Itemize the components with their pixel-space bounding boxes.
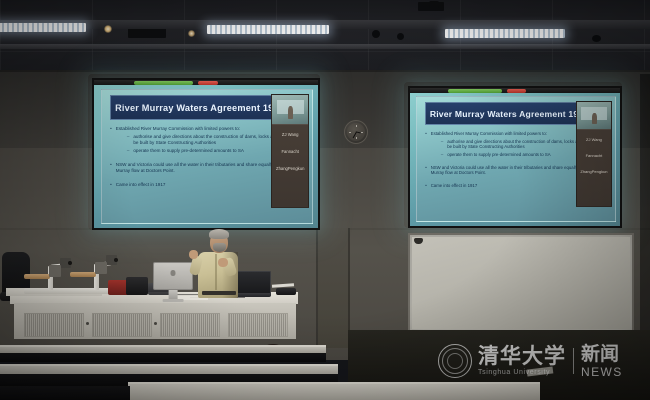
podium-vent-panel	[160, 313, 220, 337]
wall-seam	[316, 228, 318, 348]
slide-bullet: – operate them to supply pre-determined …	[127, 148, 296, 154]
ceiling-sensor	[429, 1, 439, 8]
slide-title-bar: River Murray Waters Agreement 1915	[110, 95, 289, 120]
bullet-marker: –	[441, 152, 443, 157]
participants-panel[interactable]: ZJ Wang Fannacht ZhangPengkun	[271, 94, 309, 208]
presenter-camera-thumbnail[interactable]	[272, 95, 308, 124]
ceiling-spotlight	[423, 36, 429, 42]
bullet-text: NSW and Victoria could use all the water…	[116, 162, 296, 173]
ceiling	[0, 0, 650, 78]
bullet-marker: •	[425, 183, 427, 188]
bullet-marker: –	[127, 148, 130, 154]
slide-bullet: • Came into effect in 1917	[425, 183, 599, 188]
bullet-marker: •	[425, 165, 427, 176]
participants-panel[interactable]: ZJ Wang Fannacht ZhangPengkun	[576, 101, 612, 207]
meeting-toolbar[interactable]	[94, 80, 318, 85]
wall-box	[95, 262, 107, 274]
bullet-text: Established River Murray Commission with…	[431, 131, 599, 136]
bullet-text: Established River Murray Commission with…	[116, 126, 296, 132]
podium-vent-panel	[228, 313, 288, 337]
visualizer-light-bar	[24, 274, 50, 279]
slide-bullet: – authorise and give directions about th…	[127, 134, 296, 145]
screen-share-status	[134, 81, 192, 85]
slide-bullet: – operate them to supply pre-determined …	[441, 152, 599, 157]
ceiling-beam-secondary	[0, 44, 650, 49]
ceiling-spotlight	[347, 30, 356, 39]
podium-vent-panel	[92, 313, 152, 337]
wall-corner	[640, 74, 650, 360]
bullet-marker: •	[425, 131, 427, 136]
wall-seam	[0, 70, 650, 72]
camera-person	[592, 113, 597, 124]
shirt-placket	[215, 254, 217, 290]
watermark-university-cn: 清华大学	[478, 346, 566, 367]
left-screen-surface: River Murray Waters Agreement 1915 • Est…	[94, 80, 318, 228]
participant-name[interactable]: Fannacht	[577, 142, 611, 158]
bullet-marker: •	[110, 162, 112, 173]
visualizer-light-bar	[70, 272, 96, 277]
whiteboard	[408, 233, 634, 333]
wall-pillar	[318, 228, 350, 348]
wall-clock	[344, 120, 368, 144]
slide-bullet: • NSW and Victoria could use all the wat…	[425, 165, 599, 176]
slide-body: • Established River Murray Commission wi…	[425, 127, 599, 219]
camera-person	[288, 106, 293, 118]
presenter-hair	[209, 229, 229, 239]
black-case	[126, 277, 148, 295]
podium-knob	[154, 322, 157, 325]
bullet-text: Came into effect in 1917	[116, 182, 296, 188]
desk-edge-highlight	[128, 382, 540, 384]
participant-name[interactable]: ZJ Wang	[272, 125, 308, 137]
clock-tick	[361, 132, 363, 133]
participant-name[interactable]: ZhangPengkun	[272, 154, 308, 171]
participant-name[interactable]: Fannacht	[272, 137, 308, 154]
bullet-marker: •	[110, 182, 112, 188]
watermark: 清华大学 Tsinghua University 新闻 NEWS	[438, 344, 623, 378]
lecture-hall-photo: River Murray Waters Agreement 1915 • Est…	[0, 0, 650, 400]
apple-logo-icon	[171, 270, 176, 276]
podium-vent-panel	[24, 313, 84, 337]
visualizer-base	[24, 288, 70, 294]
clock-face	[347, 123, 365, 141]
slide-bullet: • Established River Murray Commission wi…	[110, 126, 295, 132]
watermark-section-cn: 新闻	[581, 345, 623, 364]
ceiling-spotlight	[188, 30, 195, 37]
slide-right: River Murray Waters Agreement 1915 • Est…	[416, 96, 615, 222]
presenter-camera-thumbnail[interactable]	[577, 102, 611, 129]
imac-foot	[163, 299, 184, 302]
stop-share-button[interactable]	[198, 81, 218, 85]
presenter-beard	[213, 243, 226, 252]
ceiling-tile-grid	[0, 0, 650, 78]
presenter-belt	[202, 291, 236, 295]
audience-row-desk	[128, 382, 540, 400]
bullet-text: NSW and Victoria could use all the water…	[431, 165, 599, 176]
clock-tick	[349, 132, 351, 133]
participant-name[interactable]: ZJ Wang	[577, 130, 611, 142]
whiteboard-surface	[412, 237, 630, 329]
desk-edge-highlight	[0, 364, 338, 366]
presenter	[188, 228, 252, 298]
desk-device	[276, 288, 296, 295]
slide-bullet: – authorise and give directions about th…	[441, 139, 599, 150]
slide-body: • Established River Murray Commission wi…	[110, 122, 295, 221]
bullet-marker: –	[127, 134, 130, 145]
document-camera-left	[24, 258, 70, 296]
stop-share-button[interactable]	[507, 89, 526, 93]
visualizer-lens	[114, 258, 118, 262]
ceiling-light-strip	[207, 25, 329, 34]
bullet-marker: –	[441, 139, 443, 150]
slide-bullet: • Came into effect in 1917	[110, 182, 295, 188]
bullet-text: Came into effect in 1917	[431, 183, 599, 188]
left-projection-screen[interactable]: River Murray Waters Agreement 1915 • Est…	[92, 78, 320, 230]
clock-tick	[356, 137, 357, 139]
ceiling-light-strip	[0, 23, 86, 32]
slide-title: River Murray Waters Agreement 1915	[115, 103, 284, 113]
ceiling-speaker	[372, 30, 380, 38]
ceiling-light-strip	[445, 29, 565, 38]
ceiling-spotlight	[104, 25, 112, 33]
slide-left: River Murray Waters Agreement 1915 • Est…	[101, 89, 314, 224]
presenter-left-hand	[189, 250, 198, 259]
slide-title-bar: River Murray Waters Agreement 1915	[425, 102, 593, 125]
tsinghua-seal-icon	[438, 344, 472, 378]
slide-bullet: • Established River Murray Commission wi…	[425, 131, 599, 136]
screen-share-status	[448, 89, 503, 93]
imac-stand	[169, 290, 178, 299]
ceiling-speaker	[592, 35, 601, 42]
ceiling-speaker	[397, 33, 404, 40]
imac-monitor	[153, 262, 193, 290]
watermark-section-en: NEWS	[581, 366, 623, 378]
watermark-university-en: Tsinghua University	[478, 369, 566, 376]
desk-edge-highlight	[0, 345, 326, 347]
watermark-divider	[573, 348, 574, 374]
participant-name[interactable]: ZhangPengkun	[577, 158, 611, 174]
podium-knob	[86, 322, 89, 325]
presenter-right-hand	[218, 258, 228, 267]
right-projection-screen[interactable]: River Murray Waters Agreement 1915 • Est…	[408, 86, 622, 228]
meeting-toolbar[interactable]	[410, 88, 620, 93]
clock-tick	[356, 125, 357, 127]
right-screen-surface: River Murray Waters Agreement 1915 • Est…	[410, 88, 620, 226]
bullet-marker: •	[110, 126, 112, 132]
slide-bullet: • NSW and Victoria could use all the wat…	[110, 162, 295, 173]
slide-title: River Murray Waters Agreement 1915	[430, 109, 589, 119]
audience-row-face	[0, 386, 130, 400]
wall-box	[49, 265, 61, 277]
audience-row-desk	[0, 364, 338, 374]
